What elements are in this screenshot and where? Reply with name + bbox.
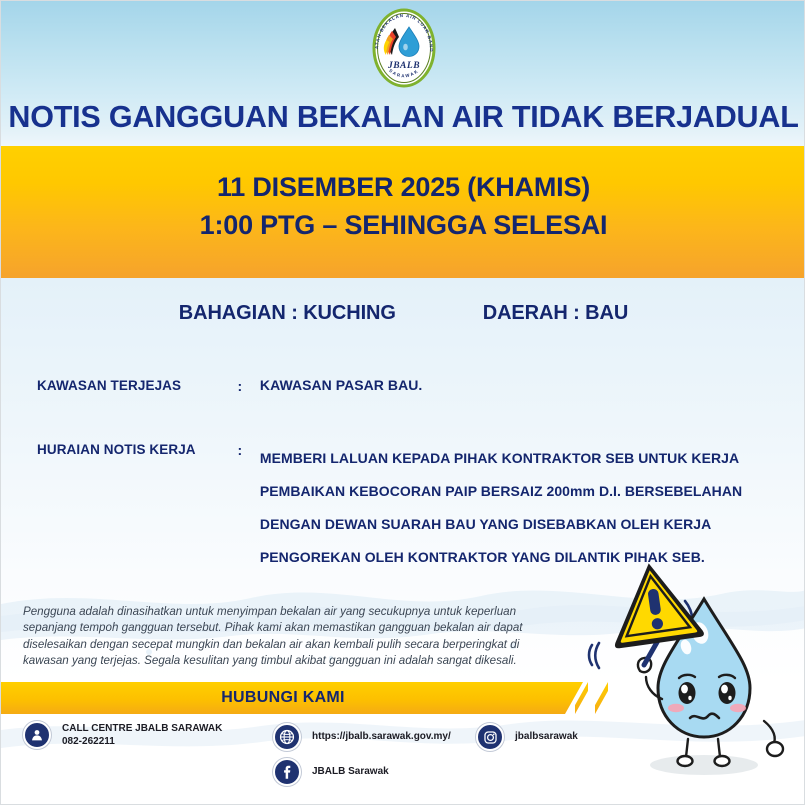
work-notice-line-3: DENGAN DEWAN SUARAH BAU YANG DISEBABKAN … [260,508,742,541]
affected-area-label: KAWASAN TERJEJAS [37,378,233,393]
contact-call-centre[interactable]: CALL CENTRE JBALB SARAWAK 082-262211 [23,721,222,749]
call-centre-line-1: CALL CENTRE JBALB SARAWAK [62,722,222,735]
facebook-icon [273,758,301,786]
contact-website[interactable]: https://jbalb.sarawak.gov.my/ [273,723,451,751]
division-label: BAHAGIAN : KUCHING [179,302,396,325]
affected-area-row: KAWASAN TERJEJAS : KAWASAN PASAR BAU. [37,378,422,396]
poster-header: JABATAN BEKALAN AIR LUAR BANDAR SARAWAK … [1,1,805,146]
bar-slash-2 [595,682,608,714]
call-centre-text: CALL CENTRE JBALB SARAWAK 082-262211 [62,722,222,748]
region-row: BAHAGIAN : KUCHING DAERAH : BAU [1,302,805,325]
contact-bar: HUBUNGI KAMI [1,682,805,718]
affected-area-value-line: KAWASAN PASAR BAU. [260,378,422,392]
affected-area-colon: : [237,378,255,394]
notice-body: BAHAGIAN : KUCHING DAERAH : BAU KAWASAN … [1,278,805,682]
notice-date: 11 DISEMBER 2025 (KHAMIS) [217,168,590,206]
jbalb-logo: JABATAN BEKALAN AIR LUAR BANDAR SARAWAK … [368,7,440,89]
instagram-label: jbalbsarawak [515,730,578,743]
work-notice-value: MEMBERI LALUAN KEPADA PIHAK KONTRAKTOR S… [260,442,742,574]
page-title: NOTIS GANGGUAN BEKALAN AIR TIDAK BERJADU… [1,100,805,135]
affected-area-value: KAWASAN PASAR BAU. [260,378,422,392]
disclaimer-text: Pengguna adalah dinasihatkan untuk menyi… [23,604,563,670]
work-notice-line-2: PEMBAIKAN KEBOCORAN PAIP BERSAIZ 200mm D… [260,475,742,508]
date-banner: 11 DISEMBER 2025 (KHAMIS) 1:00 PTG – SEH… [1,146,805,278]
svg-text:JBALB: JBALB [386,61,419,71]
facebook-label: JBALB Sarawak [312,765,389,778]
globe-icon [273,723,301,751]
contact-facebook[interactable]: JBALB Sarawak [273,758,389,786]
notice-time: 1:00 PTG – SEHINGGA SELESAI [200,206,608,244]
notice-poster: JABATAN BEKALAN AIR LUAR BANDAR SARAWAK … [0,0,805,805]
work-notice-label: HURAIAN NOTIS KERJA [37,442,233,457]
call-centre-line-2: 082-262211 [62,735,222,748]
work-notice-row: HURAIAN NOTIS KERJA : MEMBERI LALUAN KEP… [37,442,742,574]
contact-instagram[interactable]: jbalbsarawak [476,723,578,751]
contact-bar-label: HUBUNGI KAMI [1,682,565,714]
district-label: DAERAH : BAU [483,302,628,325]
person-icon [23,721,51,749]
work-notice-colon: : [237,442,255,458]
work-notice-line-4: PENGOREKAN OLEH KONTRAKTOR YANG DILANTIK… [260,541,742,574]
instagram-icon [476,723,504,751]
work-notice-line-1: MEMBERI LALUAN KEPADA PIHAK KONTRAKTOR S… [260,442,742,475]
website-label: https://jbalb.sarawak.gov.my/ [312,730,451,743]
